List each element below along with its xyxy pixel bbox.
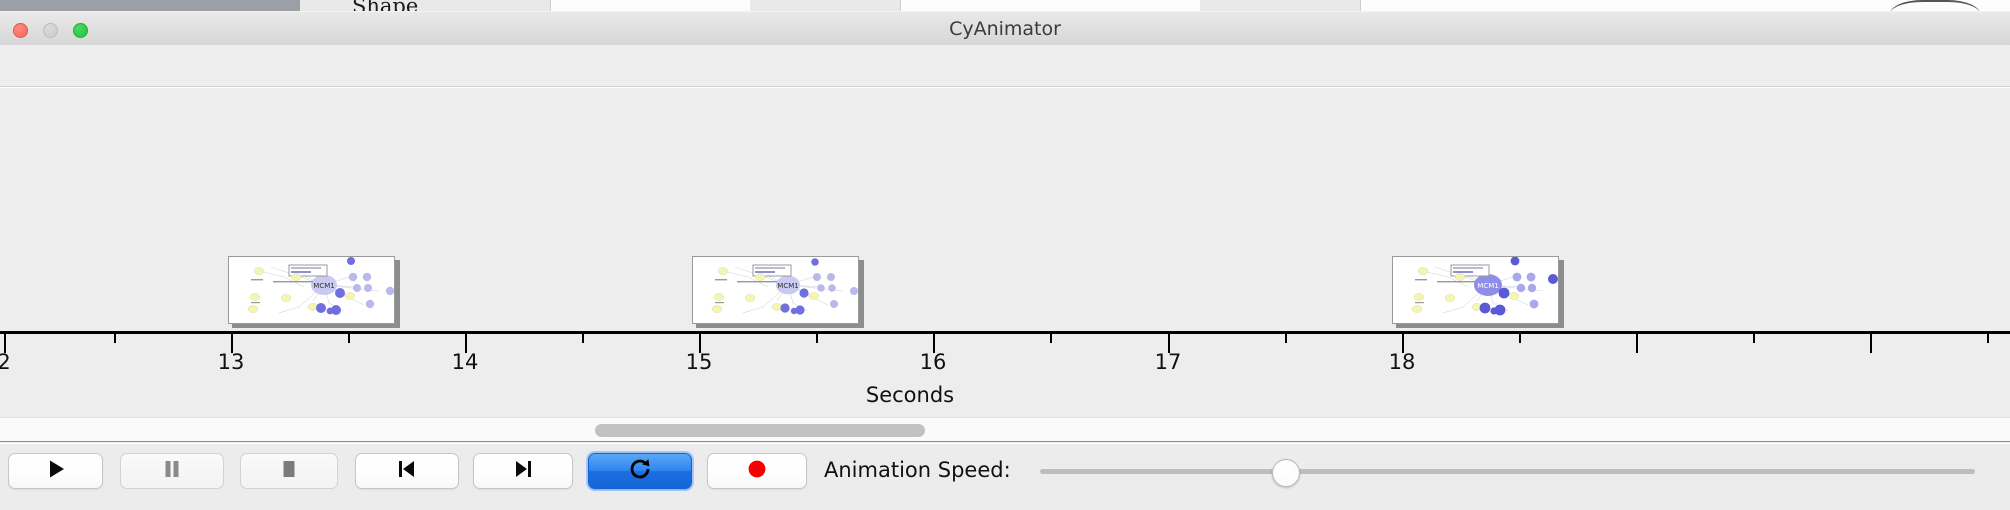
playback-control-bar: Animation Speed: — [0, 443, 2010, 510]
stop-icon — [278, 458, 300, 484]
animation-speed-slider[interactable] — [1040, 469, 1975, 474]
axis-tick-minor — [1285, 334, 1287, 343]
window-title: CyAnimator — [0, 12, 2010, 46]
record-icon — [746, 458, 768, 484]
axis-tick-minor — [1987, 334, 1989, 343]
title-bar: CyAnimator — [0, 11, 2010, 47]
pause-icon — [161, 458, 183, 484]
thumbnail-network-image: MCM1 — [692, 256, 859, 324]
axis-tick-label: 16 — [920, 350, 947, 374]
svg-text:MCM1: MCM1 — [1477, 282, 1498, 290]
axis-tick-label: 14 — [452, 350, 479, 374]
animation-speed-slider-knob[interactable] — [1272, 459, 1300, 487]
pause-button[interactable] — [120, 453, 224, 489]
skip-to-end-button[interactable] — [473, 453, 573, 489]
svg-text:MCM1: MCM1 — [777, 282, 798, 290]
skip-to-start-button[interactable] — [355, 453, 459, 489]
skip-back-icon — [395, 458, 419, 484]
cyanimator-window: Shape CyAnimator — [0, 0, 2010, 510]
axis-tick-minor — [348, 334, 350, 343]
axis-tick-minor — [1050, 334, 1052, 343]
loop-icon — [628, 457, 652, 485]
background-window-header — [0, 0, 300, 11]
loop-button[interactable] — [588, 453, 692, 489]
timeline-frame-thumbnail[interactable]: MCM1 — [228, 256, 400, 328]
svg-text:MCM1: MCM1 — [313, 282, 334, 290]
timeline-axis — [0, 331, 2010, 334]
close-window-button[interactable] — [13, 23, 28, 38]
play-icon — [45, 458, 67, 484]
axis-tick-label: 17 — [1155, 350, 1182, 374]
axis-tick-minor — [1753, 334, 1755, 343]
maximize-window-button[interactable] — [73, 23, 88, 38]
stop-button[interactable] — [240, 453, 338, 489]
axis-tick-minor — [582, 334, 584, 343]
axis-tick-major — [1870, 334, 1872, 353]
timeline-scrollbar[interactable] — [0, 417, 2010, 442]
skip-forward-icon — [511, 458, 535, 484]
axis-tick-minor — [816, 334, 818, 343]
axis-tick-label: 13 — [218, 350, 245, 374]
timeline-frame-thumbnail[interactable]: MCM1 — [692, 256, 864, 328]
thumbnail-network-image: MCM1 — [228, 256, 395, 324]
animation-speed-label: Animation Speed: — [824, 458, 1011, 482]
axis-tick-major — [1636, 334, 1638, 353]
timeline-scrollbar-thumb[interactable] — [595, 424, 925, 437]
frame-toolbar: Clear All Frames — [0, 45, 2010, 87]
timeline-frame-thumbnail[interactable]: MCM1 — [1392, 256, 1564, 328]
axis-tick-minor — [1519, 334, 1521, 343]
axis-tick-minor — [114, 334, 116, 343]
axis-tick-label: 18 — [1389, 350, 1416, 374]
axis-tick-label: 2 — [0, 350, 11, 374]
record-button[interactable] — [707, 453, 807, 489]
thumbnail-network-image: MCM1 — [1392, 256, 1559, 324]
axis-tick-label: 15 — [686, 350, 713, 374]
minimize-window-button[interactable] — [43, 23, 58, 38]
timeline-panel[interactable]: MCM1 — [0, 87, 2010, 418]
axis-title: Seconds — [866, 383, 954, 407]
play-button[interactable] — [8, 453, 103, 489]
